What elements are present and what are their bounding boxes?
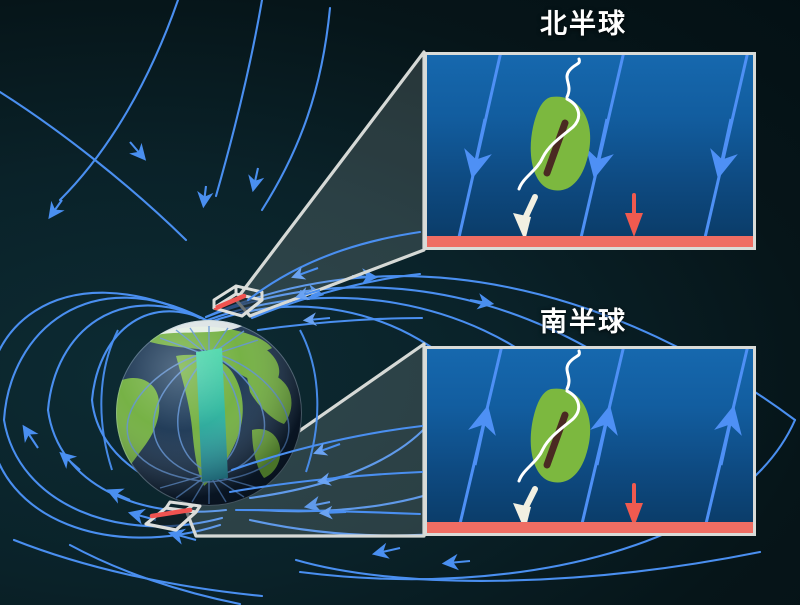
magnetic-field-lines-foreground [0, 0, 800, 605]
diagram-canvas: 北半球 [0, 0, 800, 605]
